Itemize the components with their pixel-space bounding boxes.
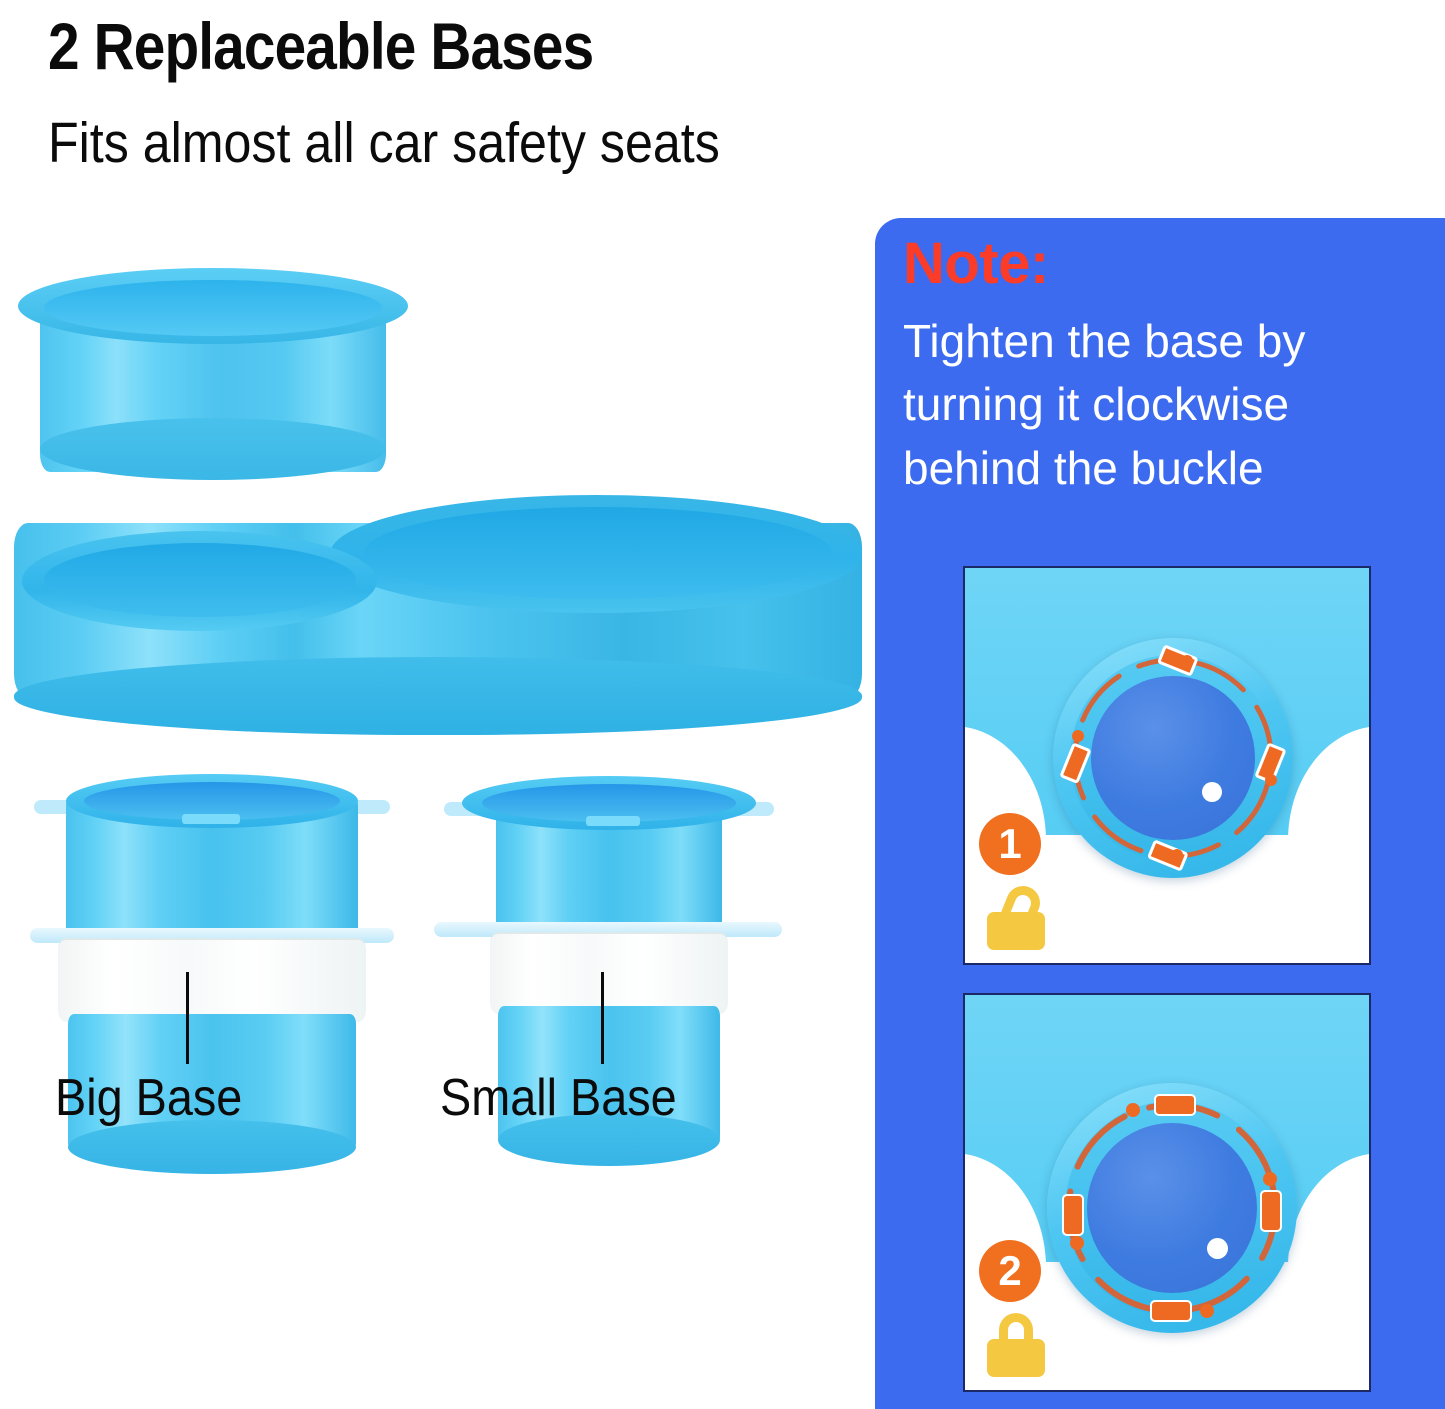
step-2-photo: 2 [963, 993, 1371, 1392]
small-base-white-band [490, 932, 728, 1014]
note-body-text: Tighten the base by turning it clockwise… [903, 310, 1433, 500]
small-base-leader-line [601, 972, 604, 1064]
product-photo-area: Big Base Small Base [0, 0, 880, 1194]
peanut-small-inner [44, 543, 356, 617]
note-title: Note: [903, 230, 1049, 297]
big-base-white-band [58, 938, 366, 1022]
big-base-label: Big Base [55, 1068, 242, 1128]
big-base-leader-line [186, 972, 189, 1064]
padlock-body [987, 1339, 1045, 1377]
step-number-badge-1: 1 [979, 813, 1041, 875]
small-base-notch [586, 816, 640, 826]
big-base-notch [182, 814, 240, 824]
small-base-label: Small Base [440, 1068, 677, 1128]
cup-holder-top-view-locked [1047, 1083, 1297, 1333]
padlock-closed-icon [987, 1313, 1045, 1377]
peanut-large-inner [364, 507, 832, 599]
note-panel: Note: Tighten the base by turning it clo… [875, 218, 1445, 1409]
figure-eight-base-photo [14, 495, 862, 735]
padlock-open-icon [987, 886, 1045, 950]
rotation-indicator-icon [1047, 1083, 1297, 1333]
collar-ring-photo [18, 268, 408, 483]
product-infographic: 2 Replaceable Bases Fits almost all car … [0, 0, 1445, 1409]
cup-holder-top-view-unlocked [1053, 638, 1293, 878]
step-1-photo: 1 [963, 566, 1371, 965]
big-base-bottom [68, 1120, 356, 1174]
rotation-indicator-icon [1053, 638, 1293, 878]
padlock-body [987, 912, 1045, 950]
peanut-bottom [14, 657, 862, 735]
collar-bottom [40, 418, 386, 480]
collar-rim-inner [44, 280, 382, 336]
step-number-badge-2: 2 [979, 1240, 1041, 1302]
